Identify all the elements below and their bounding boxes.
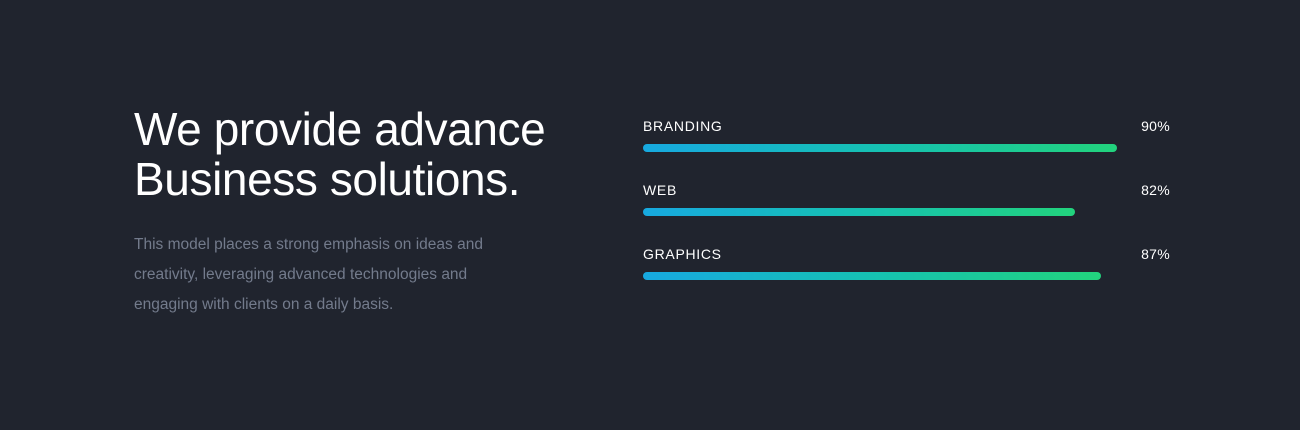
progress-track bbox=[643, 208, 1170, 216]
skill-percentage: 87% bbox=[1141, 246, 1170, 262]
intro-paragraph: This model places a strong emphasis on i… bbox=[134, 204, 526, 320]
page-title: We provide advance Business solutions. bbox=[134, 104, 604, 204]
progress-fill bbox=[643, 272, 1101, 280]
skill-header: GRAPHICS 87% bbox=[643, 246, 1170, 262]
progress-fill bbox=[643, 144, 1117, 152]
skill-label: WEB bbox=[643, 182, 677, 198]
skill-item-graphics: GRAPHICS 87% bbox=[643, 246, 1170, 280]
intro-block: We provide advance Business solutions. T… bbox=[134, 104, 604, 320]
skill-bar-list: BRANDING 90% WEB 82% GRAPHICS 87% bbox=[643, 118, 1170, 280]
progress-track bbox=[643, 144, 1170, 152]
skill-item-web: WEB 82% bbox=[643, 182, 1170, 216]
progress-fill bbox=[643, 208, 1075, 216]
skill-item-branding: BRANDING 90% bbox=[643, 118, 1170, 152]
skill-label: BRANDING bbox=[643, 118, 723, 134]
skill-percentage: 90% bbox=[1141, 118, 1170, 134]
skill-header: BRANDING 90% bbox=[643, 118, 1170, 134]
progress-track bbox=[643, 272, 1170, 280]
skill-percentage: 82% bbox=[1141, 182, 1170, 198]
skills-section: We provide advance Business solutions. T… bbox=[0, 0, 1300, 430]
skill-label: GRAPHICS bbox=[643, 246, 722, 262]
skill-header: WEB 82% bbox=[643, 182, 1170, 198]
